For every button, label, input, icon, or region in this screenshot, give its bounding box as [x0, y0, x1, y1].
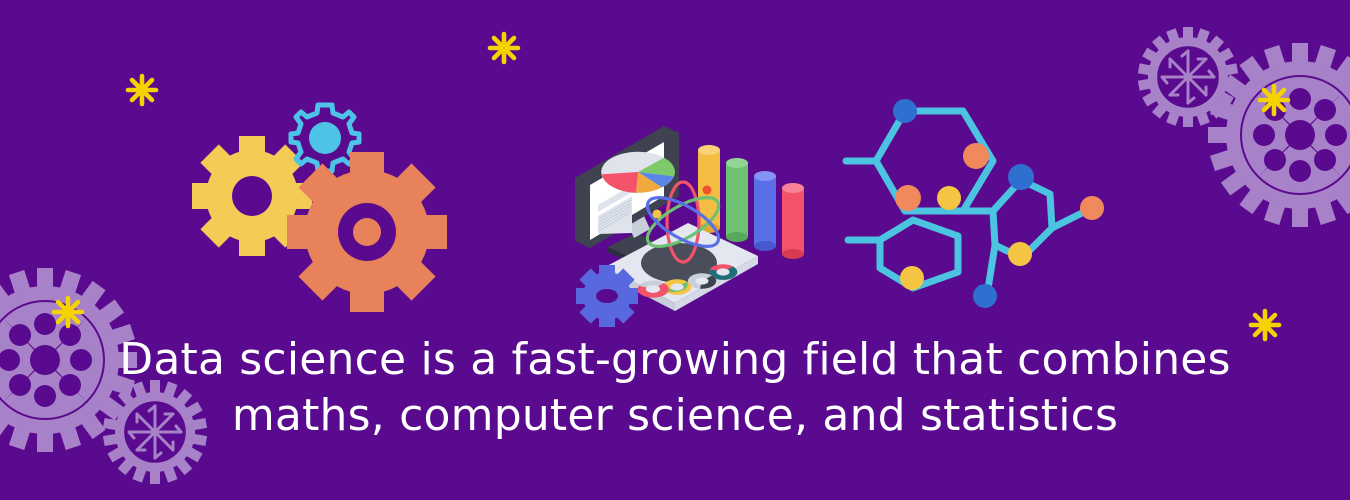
- sparkle-bottom-right: [1251, 311, 1279, 339]
- sparkle-top-left: [128, 76, 156, 104]
- sparkle-bottom-left: [54, 298, 82, 326]
- sparkle-top-center: [490, 34, 518, 62]
- sparkle-layer: [0, 0, 1350, 500]
- sparkle-top-right: [1260, 86, 1288, 114]
- data-science-banner: Data science is a fast-growing field tha…: [0, 0, 1350, 500]
